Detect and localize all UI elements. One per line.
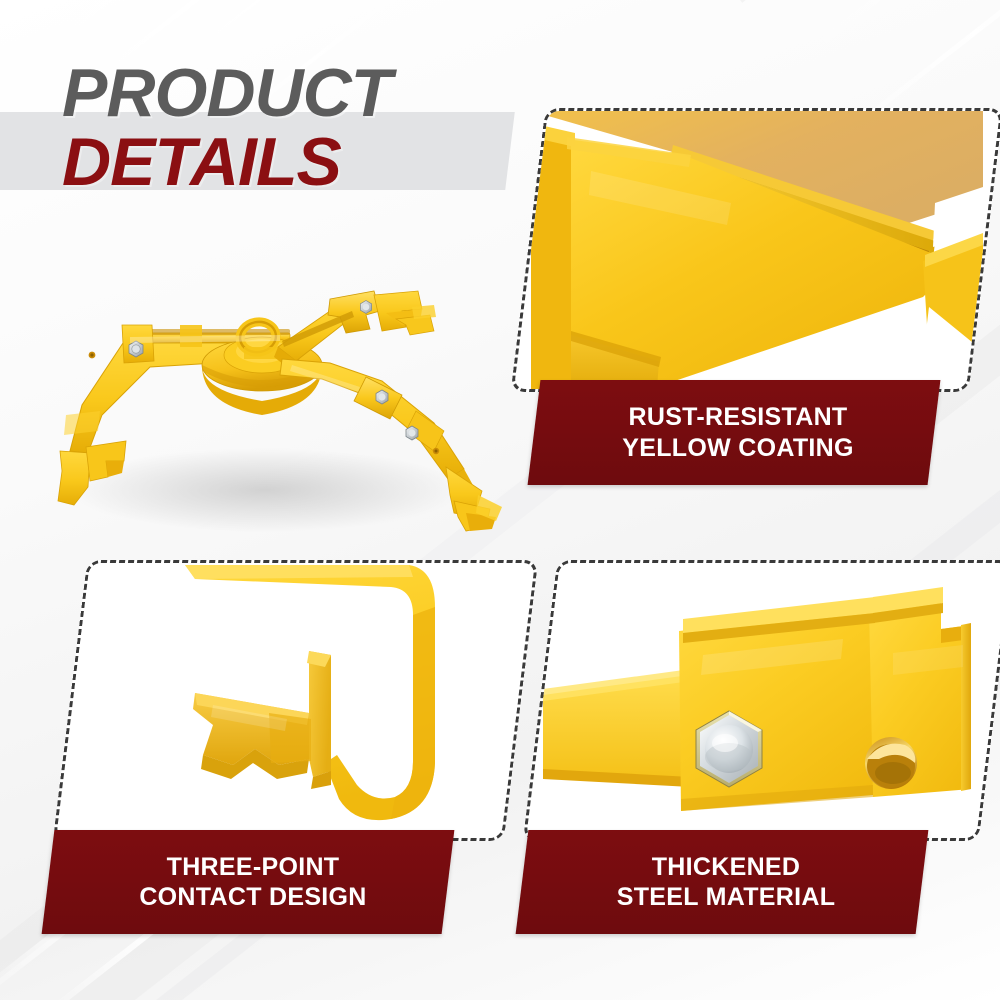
three-point-lifting-clamp-illustration [30, 255, 510, 555]
detail-card-thickened-steel-material: THICKENED STEEL MATERIAL [520, 560, 990, 930]
detail-card-three-point-contact-design: THREE-POINT CONTACT DESIGN [48, 560, 518, 930]
detail-photo-yellow-coating [511, 108, 1000, 392]
caption-line-1: THICKENED [530, 852, 922, 883]
detail-card-rust-resistant-yellow-coating: RUST-RESISTANT YELLOW COATING [528, 108, 990, 478]
clamp-jaw-contact-tip-closeup [73, 563, 518, 838]
caption-line-2: STEEL MATERIAL [530, 882, 922, 913]
detail-photo-contact-jaw [53, 560, 539, 841]
thick-steel-plate-with-hex-bolt-closeup [543, 563, 993, 838]
hero-product-image [30, 255, 510, 555]
yellow-coated-channel-closeup [531, 111, 983, 389]
caption-line-2: CONTACT DESIGN [58, 882, 448, 913]
caption-thickened-steel-material: THICKENED STEEL MATERIAL [516, 830, 929, 934]
caption-line-1: THREE-POINT [58, 852, 448, 883]
caption-rust-resistant-yellow-coating: RUST-RESISTANT YELLOW COATING [528, 380, 941, 485]
detail-photo-steel-plate-bolt [523, 560, 1000, 841]
caption-line-2: YELLOW COATING [542, 433, 934, 464]
caption-line-1: RUST-RESISTANT [542, 402, 934, 433]
caption-three-point-contact-design: THREE-POINT CONTACT DESIGN [42, 830, 455, 934]
